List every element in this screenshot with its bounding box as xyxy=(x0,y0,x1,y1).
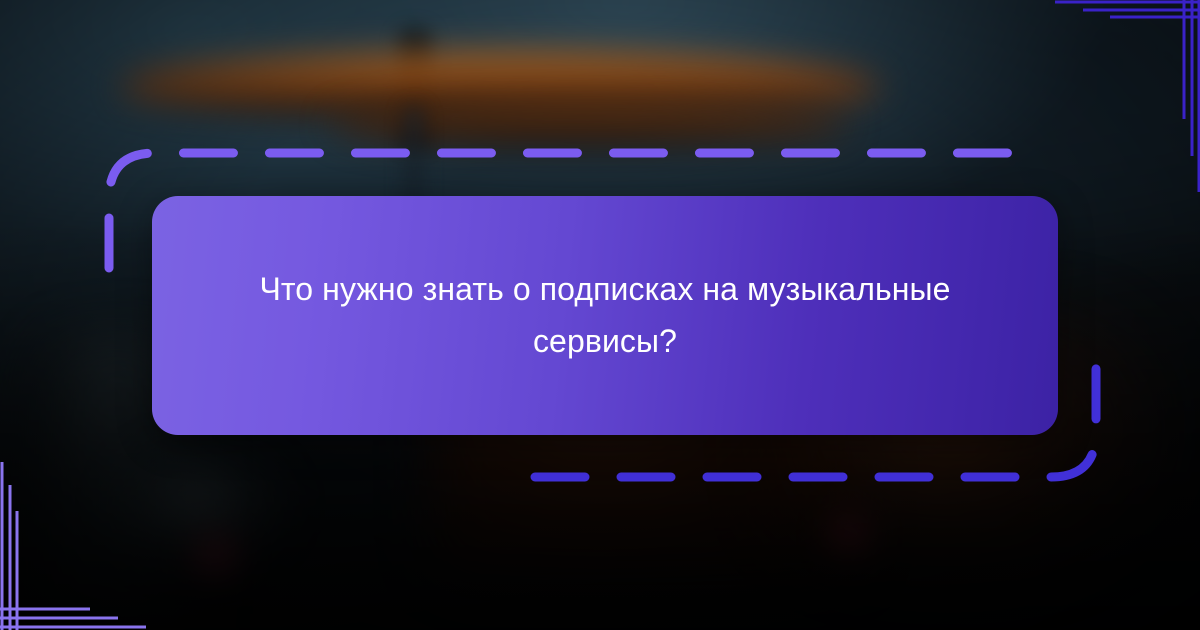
share-card-canvas: Что нужно знать о подписках на музыкальн… xyxy=(0,0,1200,630)
page-title: Что нужно знать о подписках на музыкальн… xyxy=(205,264,1005,368)
headline-card: Что нужно знать о подписках на музыкальн… xyxy=(152,196,1058,435)
